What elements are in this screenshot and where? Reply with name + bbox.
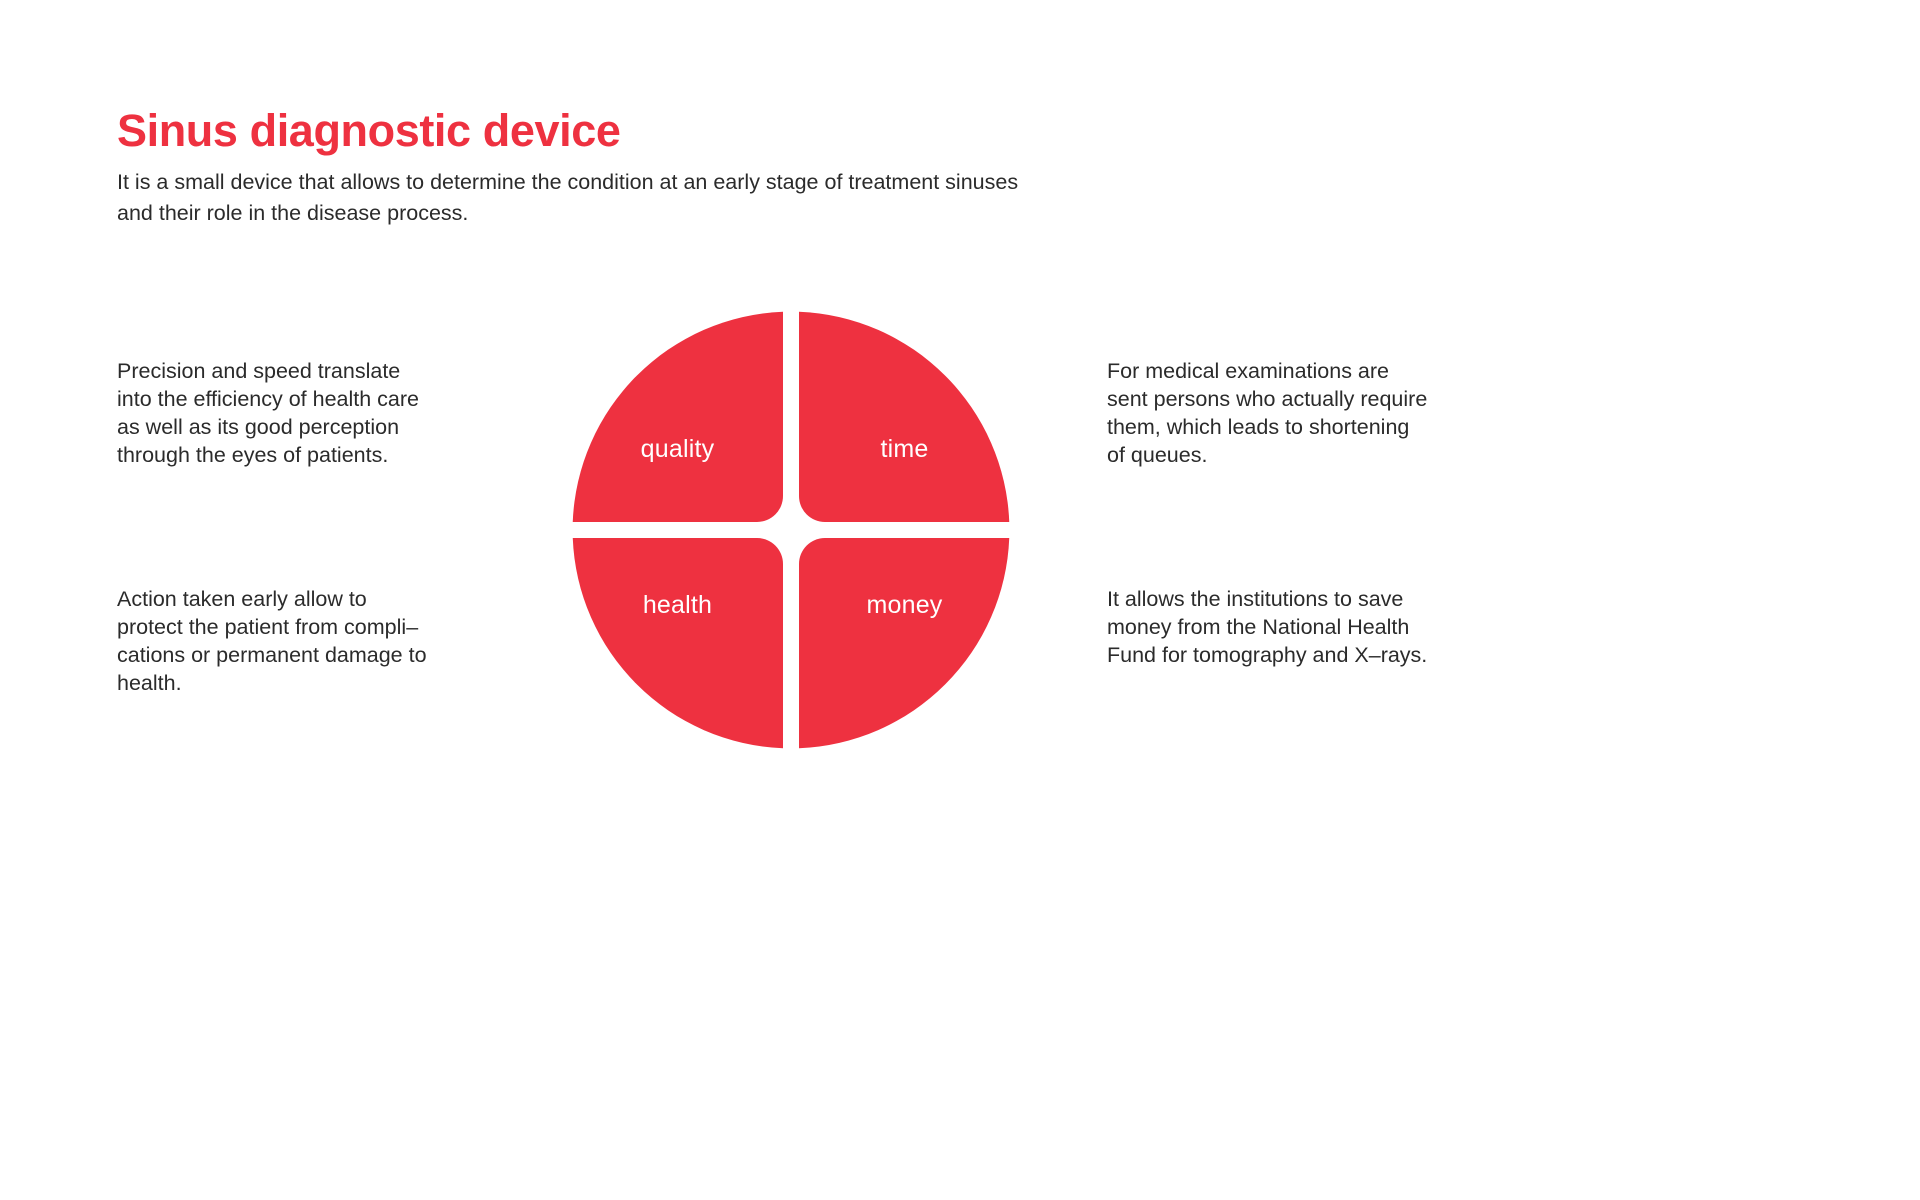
callout-money: It allows the institutions to save money… bbox=[1107, 586, 1527, 670]
callout-line: as well as its good perception bbox=[117, 414, 537, 442]
page-subtitle: It is a small device that allows to dete… bbox=[117, 167, 1117, 228]
callout-line: sent persons who actually require bbox=[1107, 386, 1527, 414]
callout-line: through the eyes of patients. bbox=[117, 442, 537, 470]
callout-line: health. bbox=[117, 670, 537, 698]
callout-line: Precision and speed translate bbox=[117, 358, 537, 386]
quadrant-money-shape[interactable] bbox=[799, 538, 1009, 748]
page-title: Sinus diagnostic device bbox=[117, 108, 1217, 153]
callout-line: For medical examinations are bbox=[1107, 358, 1527, 386]
callout-line: protect the patient from compli– bbox=[117, 614, 537, 642]
callout-line: into the efficiency of health care bbox=[117, 386, 537, 414]
page-subtitle-line: and their role in the disease process. bbox=[117, 198, 1117, 229]
callout-line: It allows the institutions to save bbox=[1107, 586, 1527, 614]
quadrant-label-health: health bbox=[572, 591, 783, 620]
callout-line: Fund for tomography and X–rays. bbox=[1107, 642, 1527, 670]
quadrant-health-shape[interactable] bbox=[573, 538, 783, 748]
quadrant-label-money: money bbox=[799, 591, 1010, 620]
callout-quality: Precision and speed translate into the e… bbox=[117, 358, 537, 470]
quadrant-label-time: time bbox=[799, 435, 1010, 464]
callout-health: Action taken early allow to protect the … bbox=[117, 586, 537, 698]
quadrant-label-quality: quality bbox=[572, 435, 783, 464]
callout-line: money from the National Health bbox=[1107, 614, 1527, 642]
callout-line: them, which leads to shortening bbox=[1107, 414, 1527, 442]
callout-line: cations or permanent damage to bbox=[117, 642, 537, 670]
quadrant-quality-shape[interactable] bbox=[573, 312, 783, 522]
quadrant-circle-diagram: quality time health money bbox=[572, 311, 1010, 749]
callout-line: of queues. bbox=[1107, 442, 1527, 470]
header: Sinus diagnostic device It is a small de… bbox=[117, 108, 1217, 228]
page-subtitle-line: It is a small device that allows to dete… bbox=[117, 167, 1117, 198]
callout-time: For medical examinations are sent person… bbox=[1107, 358, 1527, 470]
callout-line: Action taken early allow to bbox=[117, 586, 537, 614]
quadrant-time-shape[interactable] bbox=[799, 312, 1009, 522]
